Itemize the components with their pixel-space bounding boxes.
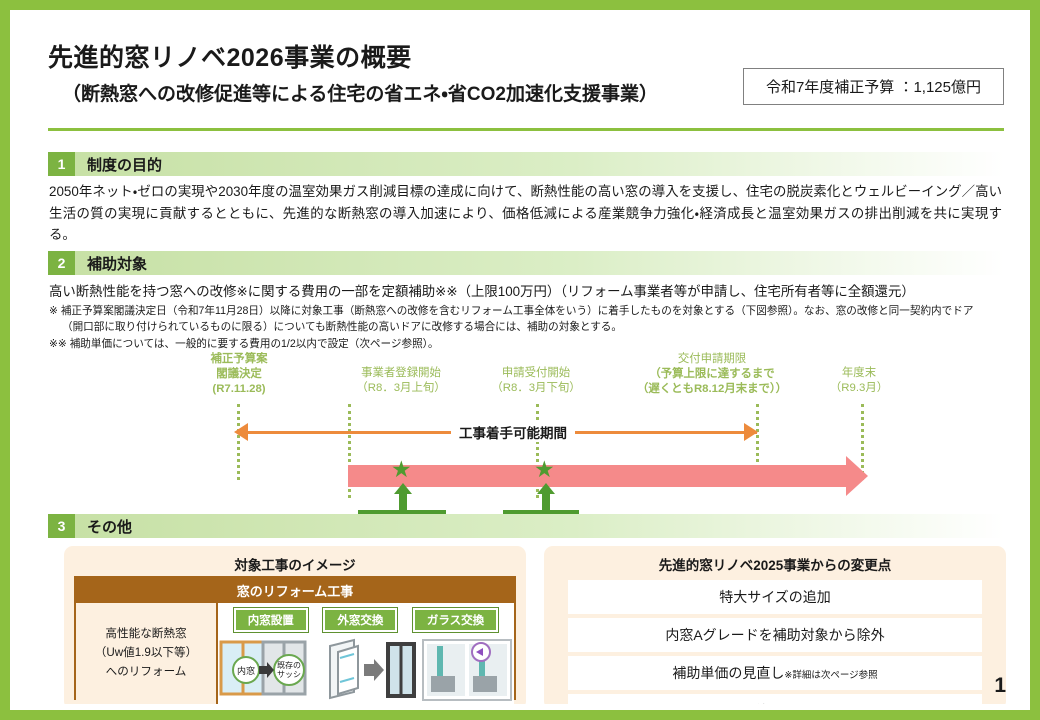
timeline-milestone-5: 年度末 （R9.3月）: [804, 366, 914, 396]
milestone-1-line-3: (R7.11.28): [184, 382, 294, 397]
target-work-panel-title: 対象工事のイメージ: [64, 546, 526, 574]
change-item: 特大サイズの追加: [568, 580, 982, 614]
star-marker-registration-icon: ★: [391, 458, 412, 481]
page-number: 1: [994, 674, 1006, 698]
section-header-3: 3 その他: [48, 514, 1004, 538]
section-title-2: 補助対象: [87, 253, 147, 274]
section-number-3: 3: [48, 514, 75, 538]
callout-tip-1-icon: [394, 483, 412, 494]
milestone-1-line-1: 補正予算案: [184, 352, 294, 367]
change-item: 補助単価の見直し※詳細は次ページ参照: [568, 656, 982, 690]
page-subtitle: （断熱窓への改修促進等による住宅の省エネ・省CO2加速化支援事業）: [62, 79, 658, 106]
change-item: 内窓Aグレードを補助対象から除外: [568, 618, 982, 652]
outer-window-replacement-illustration-icon: [324, 636, 418, 704]
milestone-1-line-2: 閣議決定: [184, 367, 294, 382]
subsidy-period-bar: [348, 465, 848, 487]
milestone-5-line-3: （R9.3月）: [804, 381, 914, 396]
note-1-line-2: （開口部に取り付けられているものに限る）についても断熱性能の高いドアに改修する場…: [49, 319, 1002, 335]
slide-page: 先進的窓リノベ2026事業の概要 （断熱窓への改修促進等による住宅の省エネ・省C…: [0, 0, 1040, 720]
section-title-3: その他: [87, 516, 132, 537]
milestone-4-line-2: （予算上限に達するまで: [622, 367, 802, 382]
target-work-panel: 対象工事のイメージ 窓のリフォーム工事 高性能な断熱窓 （Uw値1.9以下等） …: [64, 546, 526, 704]
change-item-text: 内窓Aグレードを補助対象から除外: [665, 627, 884, 643]
glass-replacement-illustration-icon: [421, 636, 513, 704]
timeline-milestone-2: 事業者登録開始 （R8．3月上旬）: [336, 366, 466, 396]
changes-list: 特大サイズの追加 内窓Aグレードを補助対象から除外 補助単価の見直し※詳細は次ペ…: [568, 580, 982, 704]
change-item-text: 補助単価の見直し: [672, 665, 784, 681]
work-type-tags: 内窓設置 外窓交換 ガラス交換: [218, 603, 514, 632]
star-marker-grant-icon: ★: [534, 458, 555, 481]
svg-text:サッシ: サッシ: [277, 670, 301, 679]
section-header-1: 1 制度の目的: [48, 152, 1004, 176]
work-types-cell: 内窓設置 外窓交換 ガラス交換 内窓: [218, 603, 514, 704]
work-tag-glass: ガラス交換: [413, 608, 498, 632]
section-2-note-1: ※ 補正予算案閣議決定日（令和7年11月28日）以降に対象工事（断熱窓への改修を…: [49, 303, 1002, 335]
left-cell-line-1: 高性能な断熱窓: [95, 625, 197, 644]
change-item: その他※追って更新: [568, 694, 982, 704]
high-performance-window-cell: 高性能な断熱窓 （Uw値1.9以下等） へのリフォーム: [76, 603, 218, 704]
callout-tip-2-icon: [537, 483, 555, 494]
milestone-4-line-1: 交付申請期限: [622, 352, 802, 367]
inner-window-illustration-icon: 内窓 既存の サッシ: [219, 636, 321, 704]
changes-panel: 先進的窓リノベ2025事業からの変更点 特大サイズの追加 内窓Aグレードを補助対…: [544, 546, 1006, 704]
target-work-table: 窓のリフォーム工事 高性能な断熱窓 （Uw値1.9以下等） へのリフォーム 内窓…: [74, 576, 516, 700]
window-reform-band: 窓のリフォーム工事: [76, 578, 514, 603]
milestone-5-line-2: 年度末: [804, 366, 914, 381]
change-item-text: その他: [727, 703, 769, 704]
left-cell-line-3: へのリフォーム: [95, 663, 197, 682]
page-title: 先進的窓リノベ2026事業の概要: [48, 38, 658, 74]
milestone-2-line-3: （R8．3月上旬）: [336, 381, 466, 396]
section-2-note-2: ※※ 補助単価については、一般的に要する費用の1/2以内で設定（次ページ参照）。: [49, 336, 1002, 352]
timeline-milestone-4: 交付申請期限 （予算上限に達するまで （遅くともR8.12月末まで））: [622, 352, 802, 397]
arrow-head-left-icon: [234, 423, 248, 441]
change-item-text: 特大サイズの追加: [719, 589, 831, 605]
title-divider: [48, 128, 1004, 131]
construction-period-arrow: 工事着手可能期間: [16, 420, 1024, 446]
section-number-1: 1: [48, 152, 75, 176]
milestone-2-line-2: 事業者登録開始: [336, 366, 466, 381]
timeline-milestone-1: 補正予算案 閣議決定 (R7.11.28): [184, 352, 294, 397]
milestone-3-line-2: 申請受付開始: [466, 366, 606, 381]
section-1-body: 2050年ネット・ゼロの実現や2030年度の温室効果ガス削減目標の達成に向けて、…: [49, 181, 1002, 246]
work-tag-outer-window: 外窓交換: [323, 608, 397, 632]
section-header-2: 2 補助対象: [48, 251, 1004, 275]
svg-text:内窓: 内窓: [237, 665, 255, 676]
timeline-milestone-3: 申請受付開始 （R8．3月下旬）: [466, 366, 606, 396]
budget-badge: 令和7年度補正予算 ：1,125億円: [743, 68, 1004, 105]
subsidy-period-bar-head-icon: [846, 456, 868, 496]
page-title-block: 先進的窓リノベ2026事業の概要 （断熱窓への改修促進等による住宅の省エネ・省C…: [48, 38, 658, 106]
arrow-head-right-icon: [744, 423, 758, 441]
schedule-timeline: 補正予算案 閣議決定 (R7.11.28) 事業者登録開始 （R8．3月上旬） …: [16, 352, 1024, 512]
svg-text:既存の: 既存の: [277, 660, 301, 670]
changes-panel-title: 先進的窓リノベ2025事業からの変更点: [544, 546, 1006, 574]
milestone-4-line-3: （遅くともR8.12月末まで））: [622, 382, 802, 397]
section-2-body: 高い断熱性能を持つ窓への改修※に関する費用の一部を定額補助※※（上限100万円）…: [49, 281, 1002, 303]
section-number-2: 2: [48, 251, 75, 275]
note-1-line-1: ※ 補正予算案閣議決定日（令和7年11月28日）以降に対象工事（断熱窓への改修を…: [49, 305, 973, 317]
milestone-3-line-3: （R8．3月下旬）: [466, 381, 606, 396]
work-illustrations: 内窓 既存の サッシ: [218, 636, 514, 704]
slide-inner: 先進的窓リノベ2026事業の概要 （断熱窓への改修促進等による住宅の省エネ・省C…: [16, 16, 1024, 704]
construction-period-label: 工事着手可能期間: [451, 422, 575, 442]
section-title-1: 制度の目的: [87, 154, 162, 175]
work-tag-inner-window: 内窓設置: [234, 608, 308, 632]
left-cell-line-2: （Uw値1.9以下等）: [95, 644, 197, 663]
change-item-note: ※詳細は次ページ参照: [784, 670, 877, 681]
